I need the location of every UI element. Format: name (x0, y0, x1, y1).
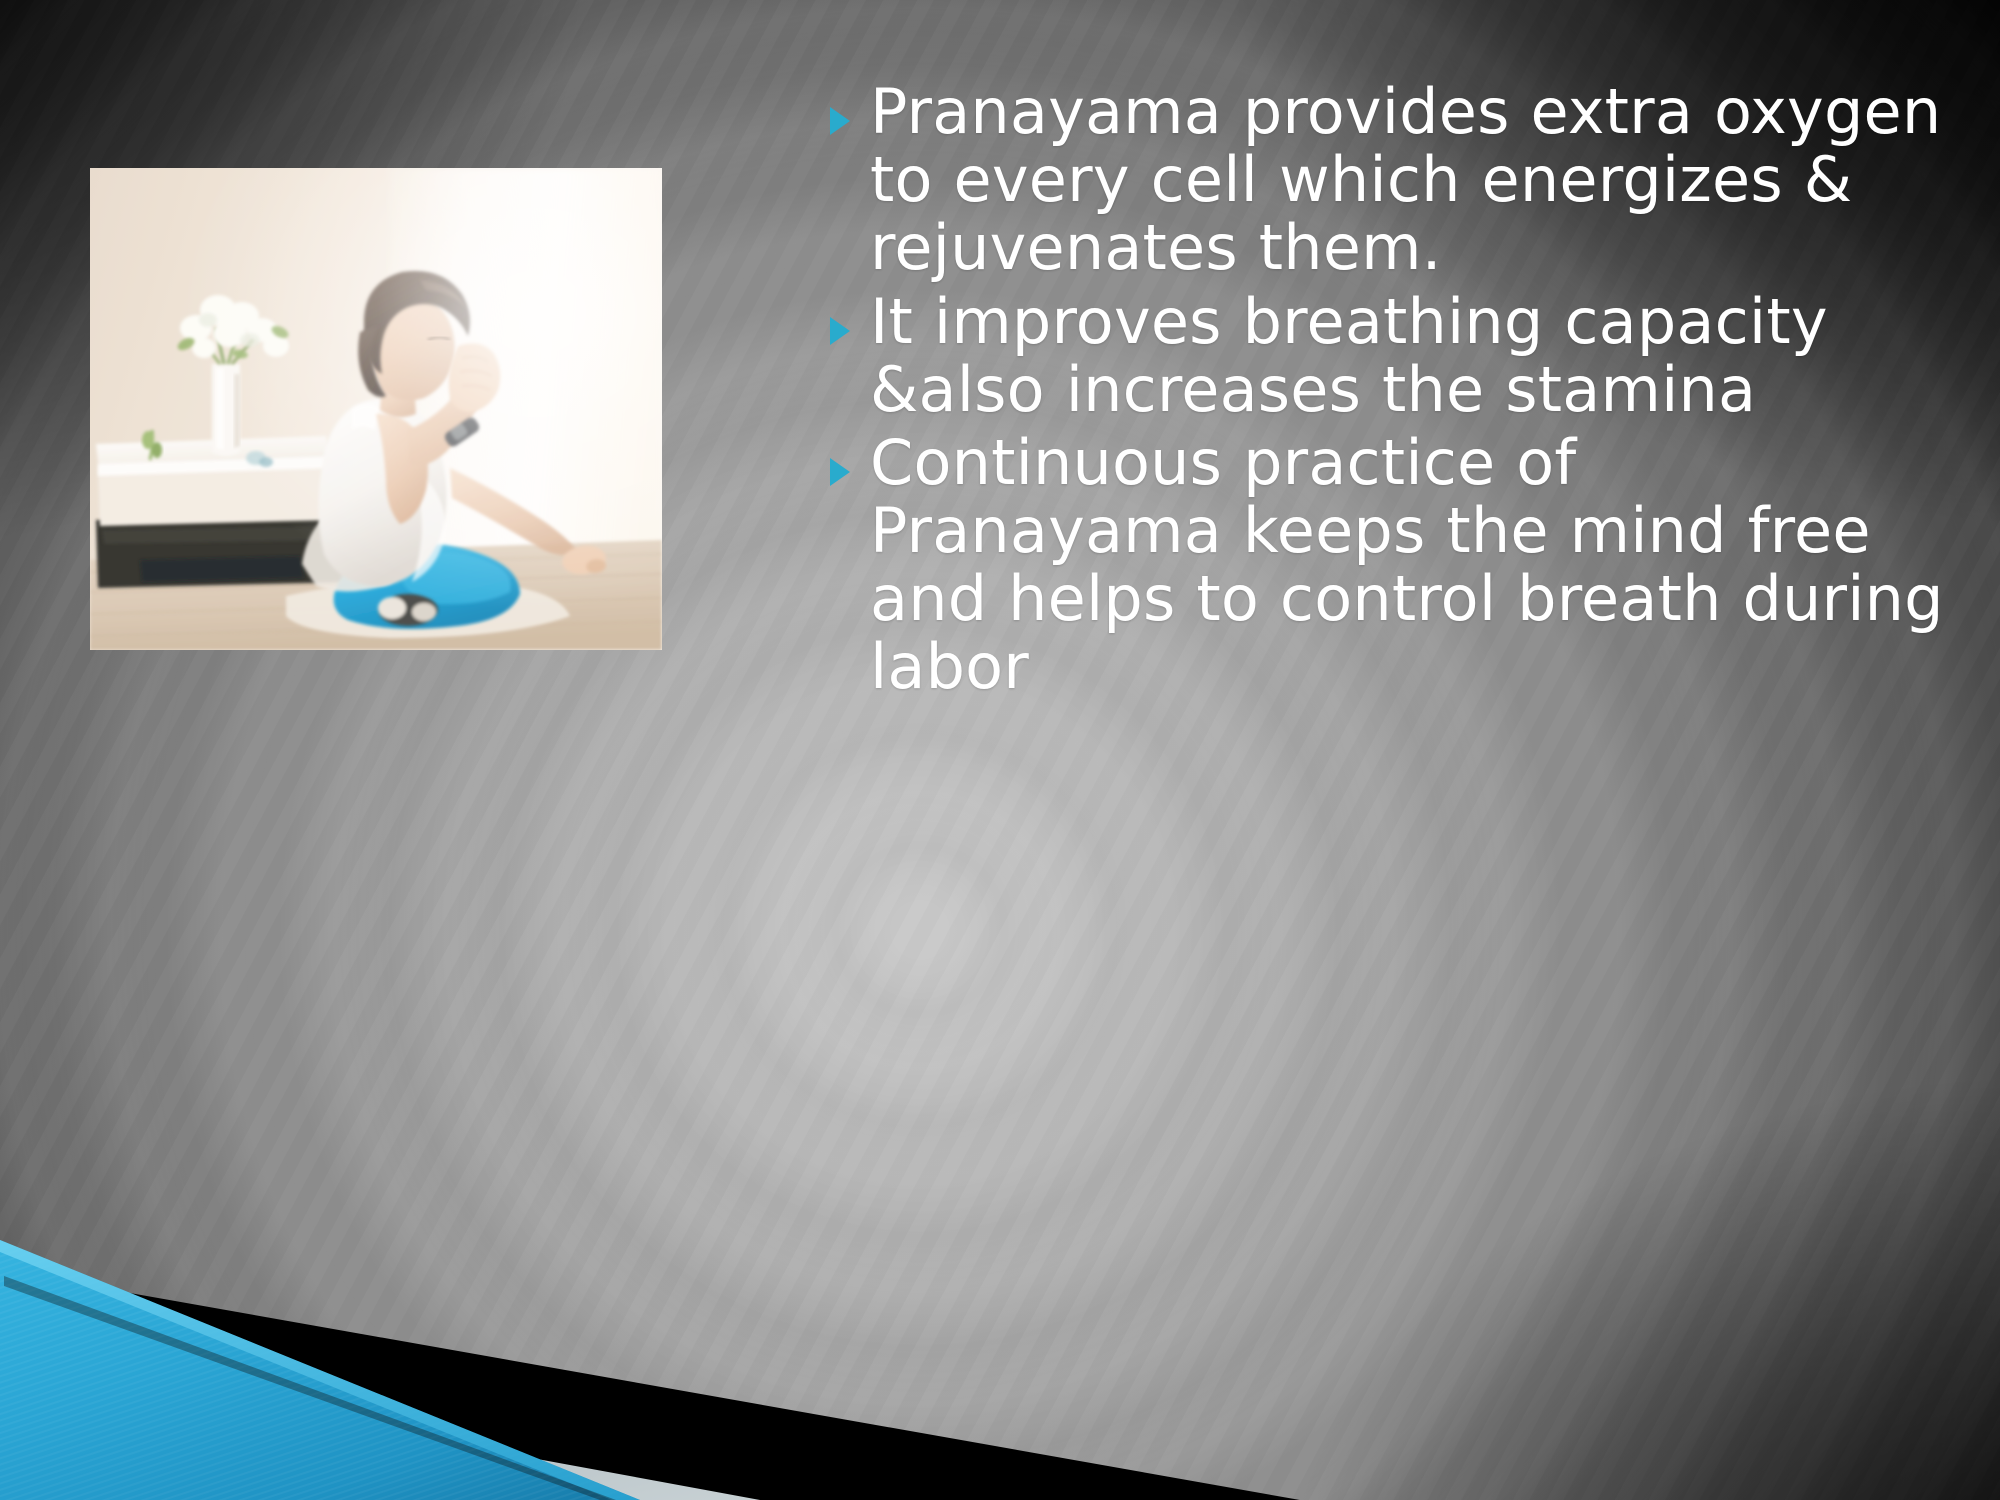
triangle-right-bullet-icon (826, 429, 860, 489)
bullet-item-3[interactable]: Continuous practice of Pranayama keeps t… (826, 429, 1946, 701)
presentation-slide: Pranayama provides extra oxygen to every… (0, 0, 2000, 1500)
angles-corner-decoration (0, 940, 1300, 1500)
bullet-text-1: Pranayama provides extra oxygen to every… (870, 78, 1946, 282)
triangle-right-bullet-icon (826, 78, 860, 138)
bullet-text-2: It improves breathing capacity &also inc… (870, 288, 1946, 424)
bullet-item-1[interactable]: Pranayama provides extra oxygen to every… (826, 78, 1946, 282)
triangle-right-bullet-icon (826, 288, 860, 348)
slide-picture-pranayama (90, 168, 662, 650)
bullet-text-3: Continuous practice of Pranayama keeps t… (870, 429, 1946, 701)
bullet-item-2[interactable]: It improves breathing capacity &also inc… (826, 288, 1946, 424)
slide-body-text[interactable]: Pranayama provides extra oxygen to every… (826, 78, 1946, 707)
